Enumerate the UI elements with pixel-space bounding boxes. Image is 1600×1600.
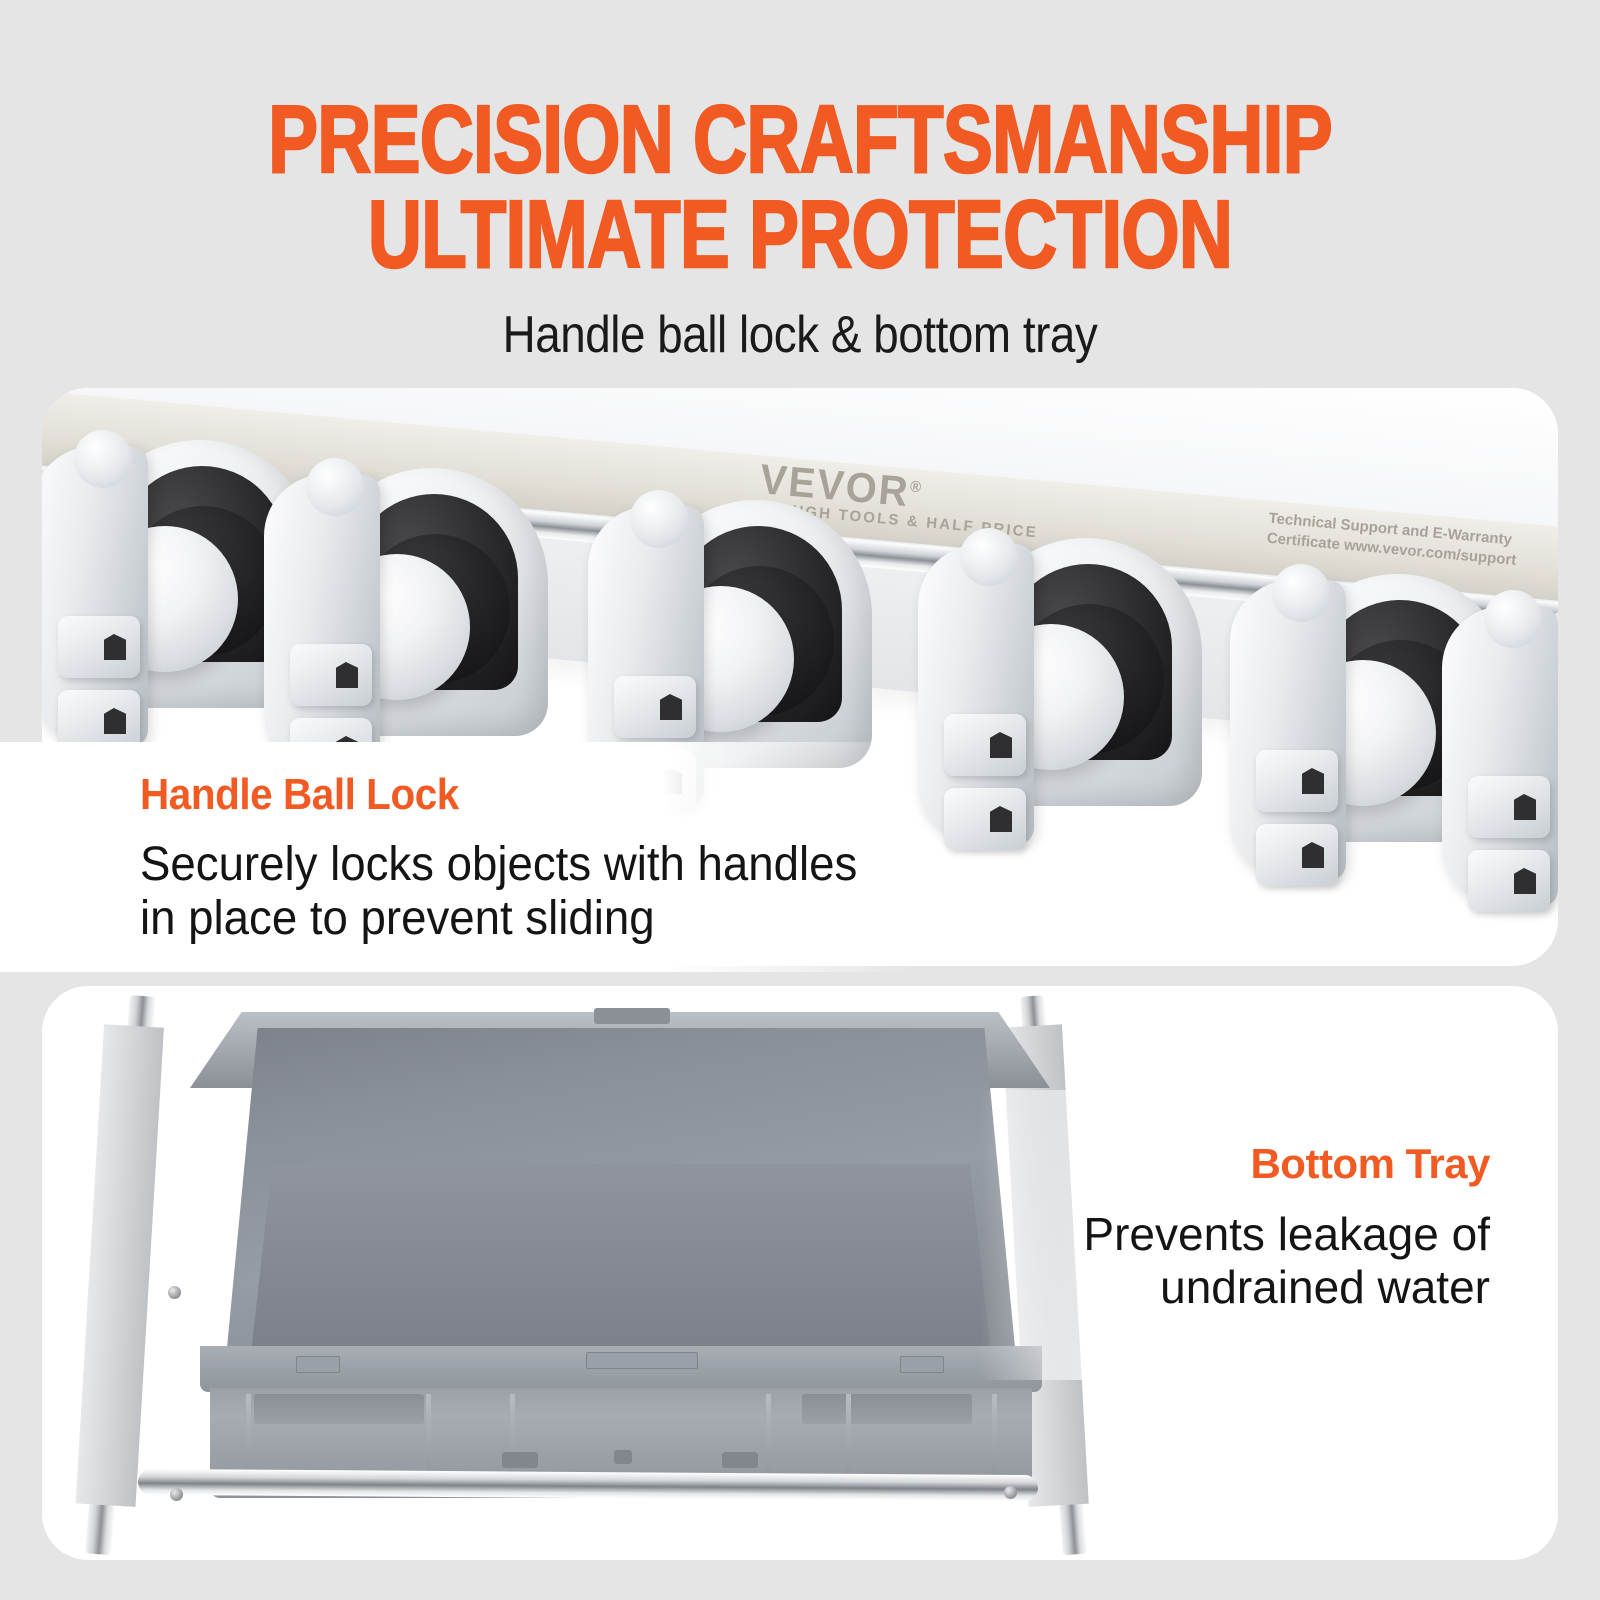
latch-slot-icon [104, 634, 126, 660]
latch-tab [944, 714, 1026, 776]
mop-holder-unit [918, 538, 1218, 868]
tray-front-wall [200, 1346, 1042, 1392]
latch-tab [1468, 850, 1550, 912]
tray-floor [250, 1164, 992, 1362]
latch-slot-icon [336, 662, 358, 688]
tray-front-tab [296, 1356, 340, 1373]
latch-slot-icon [1302, 842, 1324, 868]
latch-slot-icon [1302, 768, 1324, 794]
tray-front-tab [586, 1352, 698, 1369]
tray-caption-body: Prevents leakage of undrained water [1020, 1208, 1490, 1314]
stand-screw [1004, 1486, 1017, 1499]
marketing-slide: PRECISION CRAFTSMANSHIP ULTIMATE PROTECT… [0, 0, 1600, 1600]
latch-tab [614, 676, 696, 738]
latch-slot-icon [990, 732, 1012, 758]
latch-slot-icon [990, 806, 1012, 832]
latch-tab [1256, 750, 1338, 812]
latch-slot-icon [660, 694, 682, 720]
stand-screw [170, 1488, 183, 1501]
tray-base-slot [802, 1394, 972, 1424]
bottom-tray-caption: Bottom Tray Prevents leakage of undraine… [1020, 1140, 1490, 1314]
latch-tab [290, 644, 372, 706]
tray-caption-title: Bottom Tray [1020, 1140, 1490, 1188]
latch-tab [1468, 776, 1550, 838]
latch-slot-icon [104, 708, 126, 734]
handle-caption-body: Securely locks objects with handles in p… [140, 838, 862, 946]
latch-slot-icon [1514, 868, 1536, 894]
latch-slot-icon [1514, 794, 1536, 820]
page-headline: PRECISION CRAFTSMANSHIP ULTIMATE PROTECT… [176, 92, 1424, 282]
handle-caption-title: Handle Ball Lock [140, 770, 839, 820]
handle-ball-lock-caption: Handle Ball Lock Securely locks objects … [140, 770, 900, 946]
tray-base-clip [614, 1450, 632, 1464]
tray-base-clip [722, 1452, 758, 1468]
latch-tab [944, 788, 1026, 850]
tray-rim-notch [594, 1008, 670, 1024]
tray-body [190, 1012, 1050, 1442]
stand-screw [168, 1286, 181, 1299]
tray-base-slot [254, 1394, 424, 1424]
tray-front-tab [900, 1356, 944, 1373]
latch-tab [1256, 824, 1338, 886]
mop-holder-unit [1442, 600, 1558, 930]
page-subheadline: Handle ball lock & bottom tray [96, 305, 1504, 365]
latch-tab [58, 616, 140, 678]
stand-plate-left [76, 1024, 164, 1507]
tray-base-clip [502, 1452, 538, 1468]
